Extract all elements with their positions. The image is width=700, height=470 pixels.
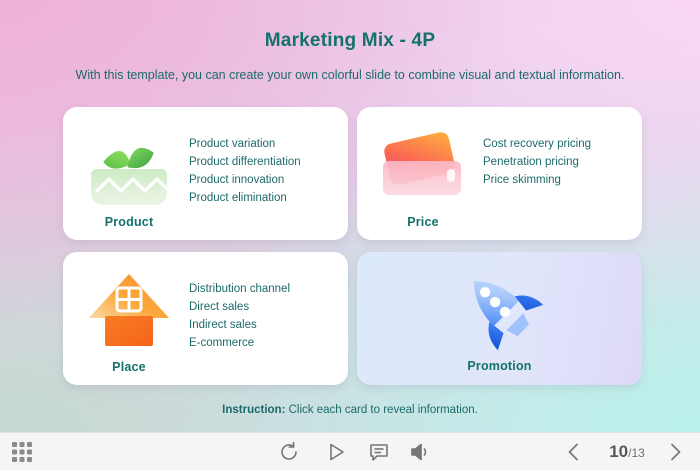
card-label-product: Product [63,215,195,229]
instruction-lead: Instruction: [222,404,285,416]
instruction-text: Instruction: Click each card to reveal i… [0,404,700,416]
bullet-item: Cost recovery pricing [483,135,591,153]
house-icon [83,266,175,354]
card-bullets-product: Product variation Product differentiatio… [189,135,301,207]
bullet-item: Direct sales [189,298,290,316]
volume-icon[interactable] [408,441,430,463]
bullet-item: Product variation [189,135,301,153]
wallet-card-icon [377,121,469,209]
card-product[interactable]: Product Product variation Product differ… [63,107,348,240]
card-label-place: Place [63,360,195,374]
instruction-body: Click each card to reveal information. [289,404,478,416]
current-page: 10 [609,442,628,461]
slide-canvas: Marketing Mix - 4P With this template, y… [0,0,700,432]
notes-icon[interactable] [368,441,390,463]
card-label-price: Price [357,215,489,229]
bullet-item: Product innovation [189,171,301,189]
bullet-item: E-commerce [189,334,290,352]
plant-icon [83,121,175,209]
bullet-item: Product elimination [189,189,301,207]
bullet-item: Price skimming [483,171,591,189]
card-bullets-place: Distribution channel Direct sales Indire… [189,280,290,352]
rocket-icon [448,264,552,350]
chevron-left-icon[interactable] [563,441,585,463]
player-toolbar: 10/13 [0,432,700,470]
grid-icon[interactable] [12,442,32,462]
bullet-item: Product differentiation [189,153,301,171]
replay-icon[interactable] [278,441,300,463]
bullet-item: Indirect sales [189,316,290,334]
play-icon[interactable] [325,441,347,463]
page-title: Marketing Mix - 4P [0,30,700,52]
bullet-item: Penetration pricing [483,153,591,171]
card-place[interactable]: Place Distribution channel Direct sales … [63,252,348,385]
card-price[interactable]: Price Cost recovery pricing Penetration … [357,107,642,240]
card-label-promotion: Promotion [357,359,642,373]
bullet-item: Distribution channel [189,280,290,298]
presentation-player: Marketing Mix - 4P With this template, y… [0,0,700,470]
total-pages: /13 [628,446,645,460]
chevron-right-icon[interactable] [664,441,686,463]
card-bullets-price: Cost recovery pricing Penetration pricin… [483,135,591,189]
card-promotion[interactable]: Promotion [357,252,642,385]
page-subtitle: With this template, you can create your … [0,68,700,82]
page-indicator: 10/13 [592,442,662,462]
